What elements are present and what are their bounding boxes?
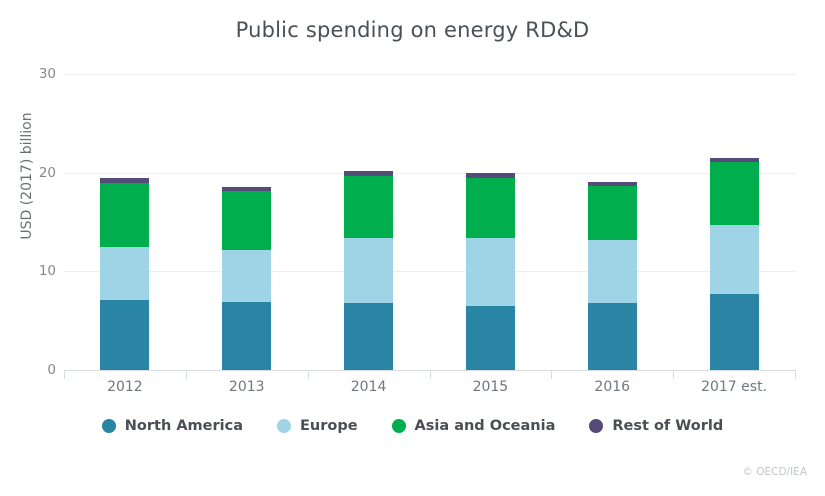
legend-label: North America	[125, 418, 243, 434]
y-axis-tick-label: 0	[16, 362, 56, 378]
bar-segment-asia-and-oceania[interactable]	[344, 176, 393, 238]
bar-segment-north-america[interactable]	[710, 294, 759, 370]
bar-segment-europe[interactable]	[466, 238, 515, 306]
legend-item-rest-of-world[interactable]: Rest of World	[589, 418, 723, 434]
y-axis-tick-label: 20	[16, 165, 56, 181]
x-axis-label-2013: 2013	[186, 379, 308, 395]
y-axis-tick-label: 10	[16, 263, 56, 279]
bar-segment-rest-of-world[interactable]	[466, 173, 515, 178]
bar-2015[interactable]	[466, 173, 515, 370]
legend-swatch-icon	[392, 419, 406, 433]
x-axis-label-2014: 2014	[308, 379, 430, 395]
chart-legend: North AmericaEuropeAsia and OceaniaRest …	[0, 418, 825, 434]
legend-item-north-america[interactable]: North America	[102, 418, 243, 434]
credit-text: © OECD/IEA	[742, 466, 807, 478]
bar-segment-rest-of-world[interactable]	[710, 158, 759, 162]
bar-segment-north-america[interactable]	[100, 300, 149, 370]
x-axis-label-2012: 2012	[64, 379, 186, 395]
gridline	[64, 173, 795, 174]
legend-label: Rest of World	[612, 418, 723, 434]
bar-segment-europe[interactable]	[100, 247, 149, 300]
bar-segment-north-america[interactable]	[222, 302, 271, 370]
chart-title: Public spending on energy RD&D	[0, 18, 825, 42]
x-axis-label-2016: 2016	[551, 379, 673, 395]
bar-segment-asia-and-oceania[interactable]	[466, 178, 515, 238]
legend-label: Europe	[300, 418, 358, 434]
bar-segment-asia-and-oceania[interactable]	[100, 183, 149, 247]
bar-segment-europe[interactable]	[588, 240, 637, 303]
bar-segment-asia-and-oceania[interactable]	[710, 162, 759, 225]
x-axis-tick	[551, 370, 552, 379]
chart-container: Public spending on energy RD&D USD (2017…	[0, 0, 825, 496]
legend-swatch-icon	[589, 419, 603, 433]
x-axis-tick	[795, 370, 796, 379]
bar-2013[interactable]	[222, 187, 271, 370]
y-axis-tick-label: 30	[16, 66, 56, 82]
bar-segment-rest-of-world[interactable]	[344, 171, 393, 176]
bar-2017-est-[interactable]	[710, 158, 759, 370]
plot-area: 0102030	[64, 74, 795, 370]
x-axis-tick	[308, 370, 309, 379]
x-axis-label-2017-est-: 2017 est.	[673, 379, 795, 395]
x-axis-labels: 201220132014201520162017 est.	[64, 379, 795, 403]
x-axis-label-2015: 2015	[430, 379, 552, 395]
bar-segment-rest-of-world[interactable]	[588, 182, 637, 186]
bar-segment-north-america[interactable]	[344, 303, 393, 370]
x-axis-tick	[673, 370, 674, 379]
bar-2016[interactable]	[588, 182, 637, 370]
gridline	[64, 271, 795, 272]
legend-label: Asia and Oceania	[415, 418, 556, 434]
gridline	[64, 74, 795, 75]
legend-swatch-icon	[102, 419, 116, 433]
bar-segment-north-america[interactable]	[588, 303, 637, 370]
bar-segment-rest-of-world[interactable]	[100, 178, 149, 183]
bar-segment-north-america[interactable]	[466, 306, 515, 370]
bar-2012[interactable]	[100, 178, 149, 370]
bar-segment-asia-and-oceania[interactable]	[588, 186, 637, 240]
x-axis-tick	[186, 370, 187, 379]
bar-segment-europe[interactable]	[222, 250, 271, 302]
bar-2014[interactable]	[344, 171, 393, 370]
bar-segment-europe[interactable]	[710, 225, 759, 294]
bar-segment-rest-of-world[interactable]	[222, 187, 271, 191]
legend-item-europe[interactable]: Europe	[277, 418, 358, 434]
legend-item-asia-and-oceania[interactable]: Asia and Oceania	[392, 418, 556, 434]
x-axis-tick	[64, 370, 65, 379]
legend-swatch-icon	[277, 419, 291, 433]
bar-segment-asia-and-oceania[interactable]	[222, 191, 271, 249]
bar-segment-europe[interactable]	[344, 238, 393, 303]
x-axis-tick	[430, 370, 431, 379]
